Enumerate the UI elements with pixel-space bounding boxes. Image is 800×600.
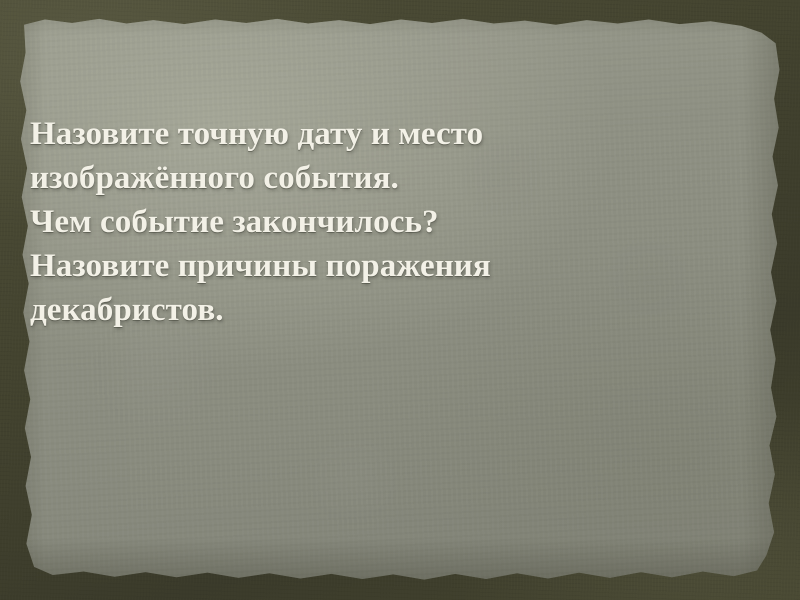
text-line-5: декабристов. xyxy=(30,288,730,332)
text-line-4: Назовите причины поражения xyxy=(30,244,730,288)
text-line-3: Чем событие закончилось? xyxy=(30,200,730,244)
slide-text-block: Назовите точную дату и место изображённо… xyxy=(30,112,730,332)
presentation-slide: Назовите точную дату и место изображённо… xyxy=(0,0,800,600)
text-line-2: изображённого события. xyxy=(30,156,730,200)
text-line-1: Назовите точную дату и место xyxy=(30,112,730,156)
